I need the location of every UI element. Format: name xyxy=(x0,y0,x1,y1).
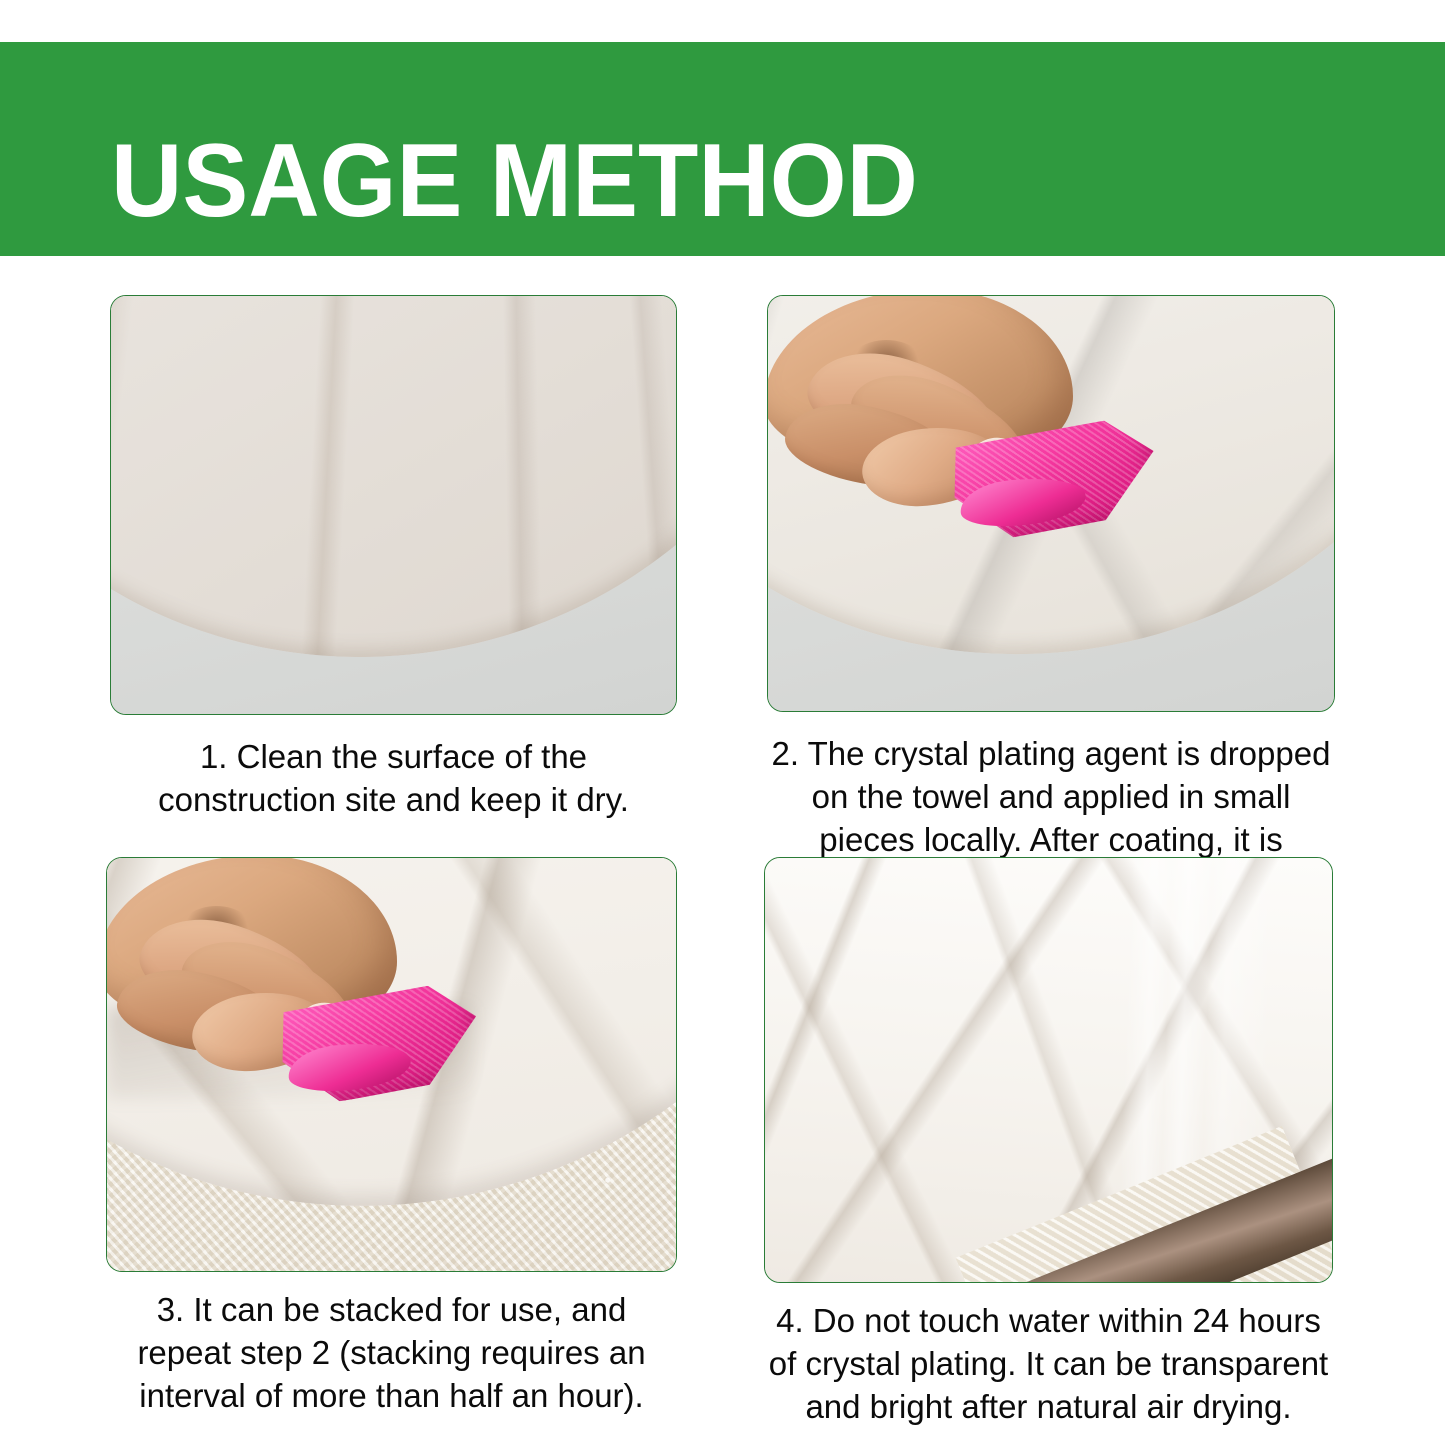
hand-with-towel xyxy=(106,857,431,1106)
step-card-2: 2. The crystal plating agent is dropped … xyxy=(767,295,1335,904)
infographic-canvas: USAGE METHOD 1. Clean the surface of the… xyxy=(0,0,1445,1445)
step-card-3: 3. It can be stacked for use, and repeat… xyxy=(106,857,677,1417)
step-card-4: 4. Do not touch water within 24 hours of… xyxy=(764,857,1333,1428)
step-3-caption: 3. It can be stacked for use, and repeat… xyxy=(106,1288,677,1417)
page-title: USAGE METHOD xyxy=(111,128,918,234)
step-3-photo xyxy=(106,857,677,1272)
steps-grid: 1. Clean the surface of the construction… xyxy=(0,256,1445,1445)
hand-with-towel xyxy=(767,295,1108,541)
step-1-caption: 1. Clean the surface of the construction… xyxy=(110,735,677,821)
step-4-caption: 4. Do not touch water within 24 hours of… xyxy=(764,1299,1333,1428)
step-4-photo xyxy=(764,857,1333,1283)
step-2-photo xyxy=(767,295,1335,712)
step-1-photo xyxy=(110,295,677,715)
header-banner: USAGE METHOD xyxy=(0,42,1445,256)
marble-table-top xyxy=(110,295,677,715)
table-gold-rim-group xyxy=(111,296,676,714)
step-card-1: 1. Clean the surface of the construction… xyxy=(110,295,677,821)
